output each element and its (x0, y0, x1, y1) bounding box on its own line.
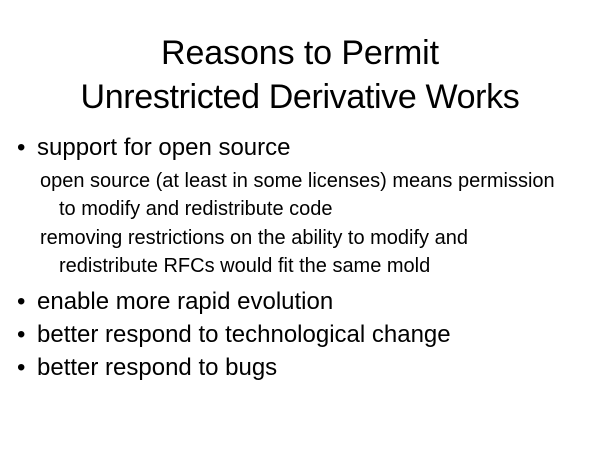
bullet-item-support-for-open-source: • support for open source (0, 131, 600, 164)
sub-paragraph-open-source-licenses: open source (at least in some licenses) … (0, 167, 600, 223)
bullet-dot-icon: • (17, 131, 25, 164)
page-title: Reasons to Permit Unrestricted Derivativ… (12, 31, 588, 119)
bullet-label: support for open source (37, 134, 291, 161)
bullet-item-better-respond-to-technological-change: • better respond to technological change (0, 318, 600, 351)
bullet-dot-icon: • (17, 318, 25, 351)
title-line-1: Reasons to Permit (12, 31, 588, 75)
slide-canvas: Reasons to Permit Unrestricted Derivativ… (0, 0, 600, 450)
bullet-item-better-respond-to-bugs: • better respond to bugs (0, 351, 600, 384)
bullet-item-enable-more-rapid-evolution: • enable more rapid evolution (0, 285, 600, 318)
bullet-dot-icon: • (17, 285, 25, 318)
sub-paragraph-group: open source (at least in some licenses) … (0, 167, 600, 280)
bullet-label: better respond to technological change (37, 321, 451, 348)
slide-body: • support for open source open source (a… (0, 131, 600, 384)
bullet-label: enable more rapid evolution (37, 288, 333, 315)
bullet-label: better respond to bugs (37, 354, 277, 381)
title-line-2: Unrestricted Derivative Works (12, 75, 588, 119)
bullet-dot-icon: • (17, 351, 25, 384)
sub-paragraph-removing-restrictions: removing restrictions on the ability to … (0, 224, 600, 280)
